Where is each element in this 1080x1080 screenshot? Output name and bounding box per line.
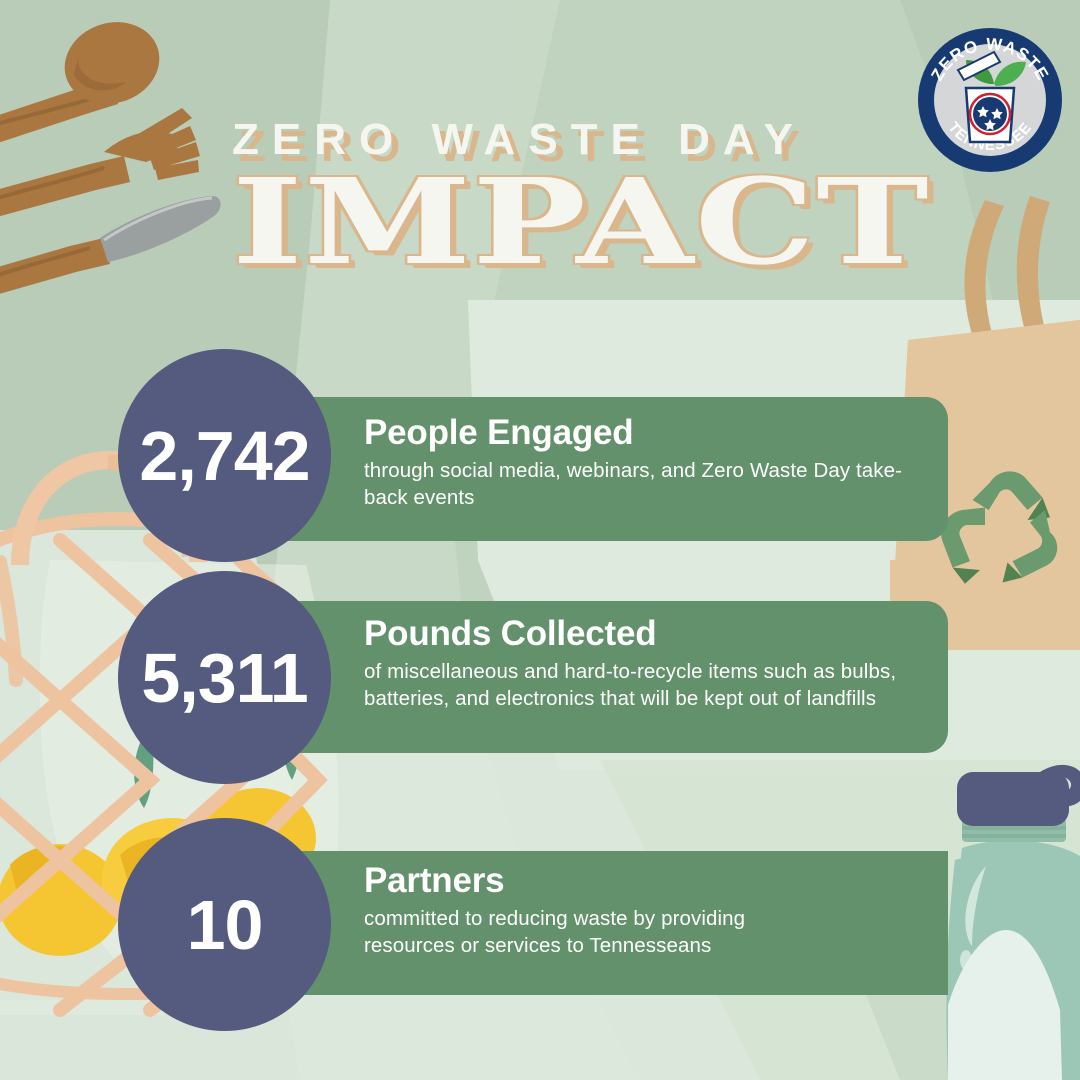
- title-block: ZERO WASTE DAY IMPACT: [232, 118, 932, 284]
- stat-circle: 10: [118, 818, 331, 1031]
- stat-description: of miscellaneous and hard-to-recycle ite…: [364, 658, 909, 712]
- stat-description: through social media, webinars, and Zero…: [364, 457, 904, 511]
- reusable-water-bottle-icon: [946, 765, 1080, 1080]
- page-title: IMPACT: [232, 160, 1080, 284]
- infographic-canvas: ZERO WASTE DAY IMPACT ZERO WASTE TENNESS…: [0, 0, 1080, 1080]
- stat-description: committed to reducing waste by providing…: [364, 905, 834, 959]
- stat-heading: Pounds Collected: [364, 615, 909, 654]
- stat-number: 5,311: [141, 643, 307, 713]
- wooden-knife-icon: [0, 196, 221, 304]
- stat-circle: 5,311: [118, 571, 331, 784]
- stat-text-group: Partners committed to reducing waste by …: [364, 862, 834, 959]
- stat-text-group: People Engaged through social media, web…: [364, 414, 904, 511]
- stat-number: 2,742: [139, 421, 309, 491]
- stat-heading: People Engaged: [364, 414, 904, 453]
- zero-waste-tennessee-logo: ZERO WASTE TENNESSEE: [916, 26, 1064, 174]
- stat-text-group: Pounds Collected of miscellaneous and ha…: [364, 615, 909, 712]
- stat-number: 10: [187, 890, 263, 960]
- stat-circle: 2,742: [118, 349, 331, 562]
- stat-heading: Partners: [364, 862, 834, 901]
